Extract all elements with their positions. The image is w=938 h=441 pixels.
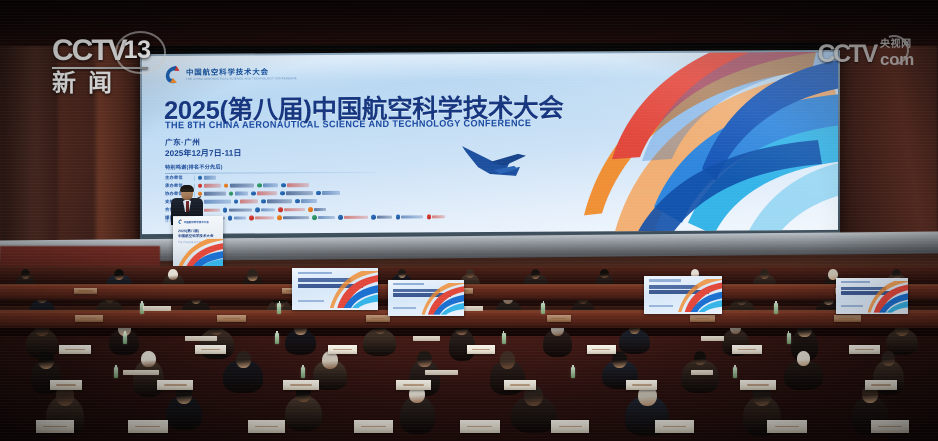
podium-swoosh-graphic [179, 239, 223, 268]
sponsor-logo [251, 191, 277, 196]
water-bottle [277, 303, 281, 314]
name-placard [655, 420, 693, 432]
sponsor-logo-text [283, 216, 309, 220]
sponsor-logo [198, 175, 216, 179]
speaker-hair [180, 185, 194, 192]
sponsor-logo [295, 199, 317, 204]
sponsor-row: 协办单位 [165, 189, 465, 197]
sponsor-logo-text [322, 191, 340, 195]
sponsor-logo-text [318, 216, 335, 220]
document-paper [691, 370, 713, 375]
sponsor-logo-mark-icon [228, 216, 232, 220]
podium-title-line2: 中国航空科学技术大会 [178, 234, 218, 239]
water-bottle [733, 367, 737, 378]
sponsor-logo-text [204, 192, 226, 196]
water-bottle [301, 367, 305, 378]
sponsor-logo-mark-icon [371, 215, 375, 219]
conference-dates: 2025年12月7日-11日 [165, 148, 242, 159]
name-placard [157, 380, 193, 391]
name-placard-text [164, 384, 186, 385]
sponsor-logo [280, 191, 313, 196]
sponsor-logo-mark-icon [312, 215, 316, 219]
water-bottle [571, 367, 575, 378]
sponsor-logo-mark-icon [261, 199, 265, 203]
sponsor-row-label: 主办单位 [165, 175, 191, 181]
name-placard [767, 420, 807, 432]
name-placard [732, 345, 761, 354]
sponsor-logo-text [261, 208, 275, 212]
sponsor-logo-mark-icon [281, 183, 285, 187]
name-placard [74, 288, 97, 294]
document-paper [413, 336, 440, 341]
audience-member-head [21, 269, 30, 280]
placard-footer [649, 305, 672, 307]
name-placard [354, 420, 394, 432]
audience-member-head [600, 269, 609, 279]
placard-swoosh-graphic [868, 281, 908, 313]
name-placard-text [663, 426, 687, 427]
name-placard-text [43, 426, 67, 427]
sponsor-row: 承办单位 [165, 181, 465, 189]
sponsor-logo-mark-icon [249, 216, 253, 220]
sponsor-logo [316, 191, 340, 196]
podium-emblem-icon [178, 219, 182, 224]
sponsor-logo [255, 207, 275, 212]
sponsor-logo-mark-icon [278, 207, 282, 211]
sponsor-logo-text [287, 183, 309, 187]
sponsor-logo [229, 191, 248, 196]
sponsor-logo-mark-icon [295, 199, 299, 203]
conference-table-placard [388, 280, 464, 316]
emblem-title-cn: 中国航空科学技术大会 [186, 68, 297, 76]
name-placard [626, 380, 657, 391]
water-bottle [123, 333, 127, 344]
thanks-section: 特别鸣谢(排名不分先后) [165, 163, 397, 174]
placard-emblem [393, 283, 423, 285]
sponsor-logo-text [344, 215, 368, 219]
name-placard [547, 315, 571, 323]
sponsor-logo [249, 216, 274, 221]
placard-emblem [298, 272, 332, 275]
sponsor-logo [338, 215, 368, 220]
name-placard-text [361, 426, 386, 427]
sponsor-logo [224, 183, 254, 188]
sponsor-logo-text [204, 200, 231, 204]
name-placard-text [403, 384, 424, 385]
audience-member-head [114, 269, 124, 280]
sponsor-logo-mark-icon [257, 183, 261, 187]
podium: 中国航空科学技术大会 2025(第八届) 中国航空科学技术大会 广东·广州 20… [173, 216, 223, 268]
name-placard-text [290, 384, 312, 385]
sponsor-logo-mark-icon [277, 216, 281, 220]
placard-footer [298, 300, 324, 302]
sponsor-logo-text [255, 216, 274, 220]
name-placard-text [632, 384, 651, 385]
sponsor-logo [261, 199, 292, 204]
sponsor-logo-text [401, 215, 423, 219]
name-placard [865, 380, 897, 391]
name-placard-text [135, 426, 160, 427]
sponsor-logo-mark-icon [229, 192, 233, 196]
sponsor-logo-mark-icon [234, 200, 238, 204]
placard-emblem [649, 279, 680, 281]
audience-member-head [797, 351, 810, 366]
sponsor-row-items [198, 215, 445, 221]
sponsor-logo [278, 207, 305, 212]
sponsor-row-divider [194, 175, 195, 180]
audience-member-head [417, 351, 431, 367]
sponsor-logo [234, 199, 258, 204]
name-placard [59, 345, 91, 354]
name-placard-text [747, 384, 769, 385]
sponsor-logo [228, 216, 246, 220]
sponsor-logo-mark-icon [280, 191, 284, 195]
name-placard-text [878, 426, 902, 427]
name-placard-text [695, 318, 711, 319]
sponsor-logo-text [377, 215, 392, 219]
emblem-mark-icon [164, 65, 181, 84]
name-placard [248, 420, 285, 432]
name-placard-text [472, 349, 490, 350]
sponsor-logo-grid: 主办单位承办单位协办单位支持单位合作单位媒体支持 [165, 173, 465, 221]
audience-member [681, 360, 718, 393]
conference-table-placard [836, 278, 908, 314]
audience-member-head [398, 269, 406, 278]
name-placard [551, 420, 588, 432]
name-placard [467, 345, 496, 354]
sponsor-logo-mark-icon [255, 208, 259, 212]
document-paper [185, 336, 217, 341]
sponsor-logo-mark-icon [224, 183, 228, 187]
stage-screen: 中国航空科学技术大会 THE CHINA AERONAUTICAL SCIENC… [142, 52, 838, 234]
name-placard-text [855, 349, 874, 350]
sponsor-logo-text [301, 200, 317, 204]
audience-member-head [38, 351, 54, 369]
sponsor-logo [312, 215, 335, 220]
name-placard-text [510, 384, 530, 385]
name-placard-text [371, 318, 386, 319]
water-bottle [787, 333, 791, 344]
sponsor-logo-mark-icon [316, 191, 320, 195]
placard-swoosh-graphic [330, 271, 378, 308]
sponsor-logo-mark-icon [427, 215, 431, 219]
name-placard [128, 420, 168, 432]
sponsor-logo-text [257, 192, 277, 196]
sponsor-logo-text [267, 200, 292, 204]
sponsor-row-items [198, 175, 216, 179]
sponsor-logo [308, 207, 326, 211]
sponsor-logo-text [263, 184, 278, 188]
document-paper [425, 370, 459, 375]
sponsor-row-items [198, 199, 317, 204]
sponsor-logo-text [284, 208, 305, 212]
name-placard-text [551, 318, 566, 319]
name-placard [504, 380, 536, 391]
emblem-title-en: THE CHINA AERONAUTICAL SCIENCE AND TECHN… [186, 77, 297, 80]
sponsor-logo-text [204, 208, 220, 212]
audience-member-head [247, 269, 258, 281]
name-placard [366, 315, 390, 323]
placard-footer [393, 307, 416, 309]
placard-swoosh-graphic [678, 279, 722, 312]
sponsor-logo-text [235, 192, 248, 196]
audience-member-head [694, 351, 707, 365]
name-placard-text [78, 290, 92, 291]
name-placard [217, 315, 245, 323]
sponsor-logo-text [432, 215, 445, 219]
name-placard [50, 380, 83, 391]
podium-title: 2025(第八届) 中国航空科学技术大会 [178, 229, 218, 239]
name-placard [195, 345, 226, 354]
podium-emblem: 中国航空科学技术大会 [178, 219, 209, 224]
document-paper [701, 336, 723, 341]
sponsor-logo [281, 183, 309, 188]
name-placard-text [738, 349, 756, 350]
conference-table-placard [644, 276, 722, 314]
sponsor-logo-text [314, 208, 326, 212]
name-placard [75, 315, 103, 323]
sponsor-logo-text [230, 184, 254, 188]
water-bottle [502, 333, 506, 344]
sponsor-logo-text [204, 176, 216, 180]
placard-emblem [841, 281, 870, 283]
name-placard [587, 345, 616, 354]
sponsor-logo [396, 215, 424, 220]
audience-member-head [236, 351, 251, 368]
audience-seating [0, 266, 938, 441]
name-placard-text [467, 426, 492, 427]
name-placard [396, 380, 430, 391]
sponsor-logo-mark-icon [251, 191, 255, 195]
water-bottle [774, 303, 778, 314]
sponsor-logo-mark-icon [223, 208, 227, 212]
sponsor-row-items [198, 183, 309, 188]
audience-member-head [466, 269, 474, 278]
sponsor-logo-mark-icon [396, 215, 400, 219]
sponsor-logo-text [204, 184, 221, 188]
placard-swoosh-graphic [421, 283, 464, 315]
name-placard-text [56, 384, 76, 385]
audience-member-head [882, 351, 896, 366]
name-placard [740, 380, 776, 391]
audience-member-head [500, 351, 516, 369]
name-placard-text [592, 349, 610, 350]
sponsor-row-items [198, 207, 326, 212]
sponsor-logo [427, 215, 446, 220]
name-placard [283, 380, 319, 391]
name-placard-text [201, 349, 220, 350]
conference-emblem: 中国航空科学技术大会 THE CHINA AERONAUTICAL SCIENC… [164, 64, 297, 84]
aircraft-silhouette-icon [460, 140, 552, 187]
sponsor-logo [223, 208, 252, 213]
sponsor-logo-text [240, 200, 258, 204]
name-placard [849, 345, 879, 354]
audience-member-head [141, 351, 155, 367]
conference-location: 广东·广州 [165, 137, 200, 148]
thanks-label: 特别鸣谢(排名不分先后) [165, 163, 397, 171]
name-placard [36, 420, 74, 432]
name-placard-text [223, 318, 240, 319]
name-placard [690, 315, 715, 323]
sponsor-row: 主办单位 [165, 173, 465, 181]
sponsor-logo-text [229, 208, 252, 212]
name-placard-text [775, 426, 800, 427]
sponsor-logo-mark-icon [338, 215, 342, 219]
name-placard [460, 420, 500, 432]
broadcast-frame: 中国航空科学技术大会 THE CHINA AERONAUTICAL SCIENC… [0, 0, 938, 441]
water-bottle [114, 367, 118, 378]
conference-table-placard [292, 268, 378, 310]
document-paper [143, 306, 171, 311]
name-placard-text [255, 426, 278, 427]
sponsor-logo-mark-icon [308, 207, 312, 211]
name-placard-text [333, 349, 351, 350]
podium-emblem-label: 中国航空科学技术大会 [184, 219, 209, 223]
sponsor-row-items [198, 191, 340, 196]
name-placard-text [871, 384, 891, 385]
name-placard [871, 420, 909, 432]
sponsor-row: 支持单位 [165, 197, 465, 205]
sponsor-logo-mark-icon [198, 176, 202, 180]
name-placard-text [80, 318, 97, 319]
name-placard [834, 315, 861, 323]
audience-member-head [531, 269, 540, 279]
sponsor-logo [277, 215, 309, 220]
ceiling [0, 0, 938, 46]
water-bottle [541, 303, 545, 314]
water-bottle [275, 333, 279, 344]
sponsor-row: 合作单位 [165, 206, 465, 214]
document-paper [123, 370, 159, 375]
speaker-tie [186, 201, 189, 212]
name-placard-text [559, 426, 582, 427]
name-placard-text [839, 318, 856, 319]
name-placard-text [65, 349, 85, 350]
placard-footer [841, 305, 863, 307]
sponsor-logo [257, 183, 278, 188]
name-placard [328, 345, 357, 354]
sponsor-logo-text [234, 216, 246, 220]
sponsor-logo-text [286, 191, 313, 195]
sponsor-logo [371, 215, 392, 220]
